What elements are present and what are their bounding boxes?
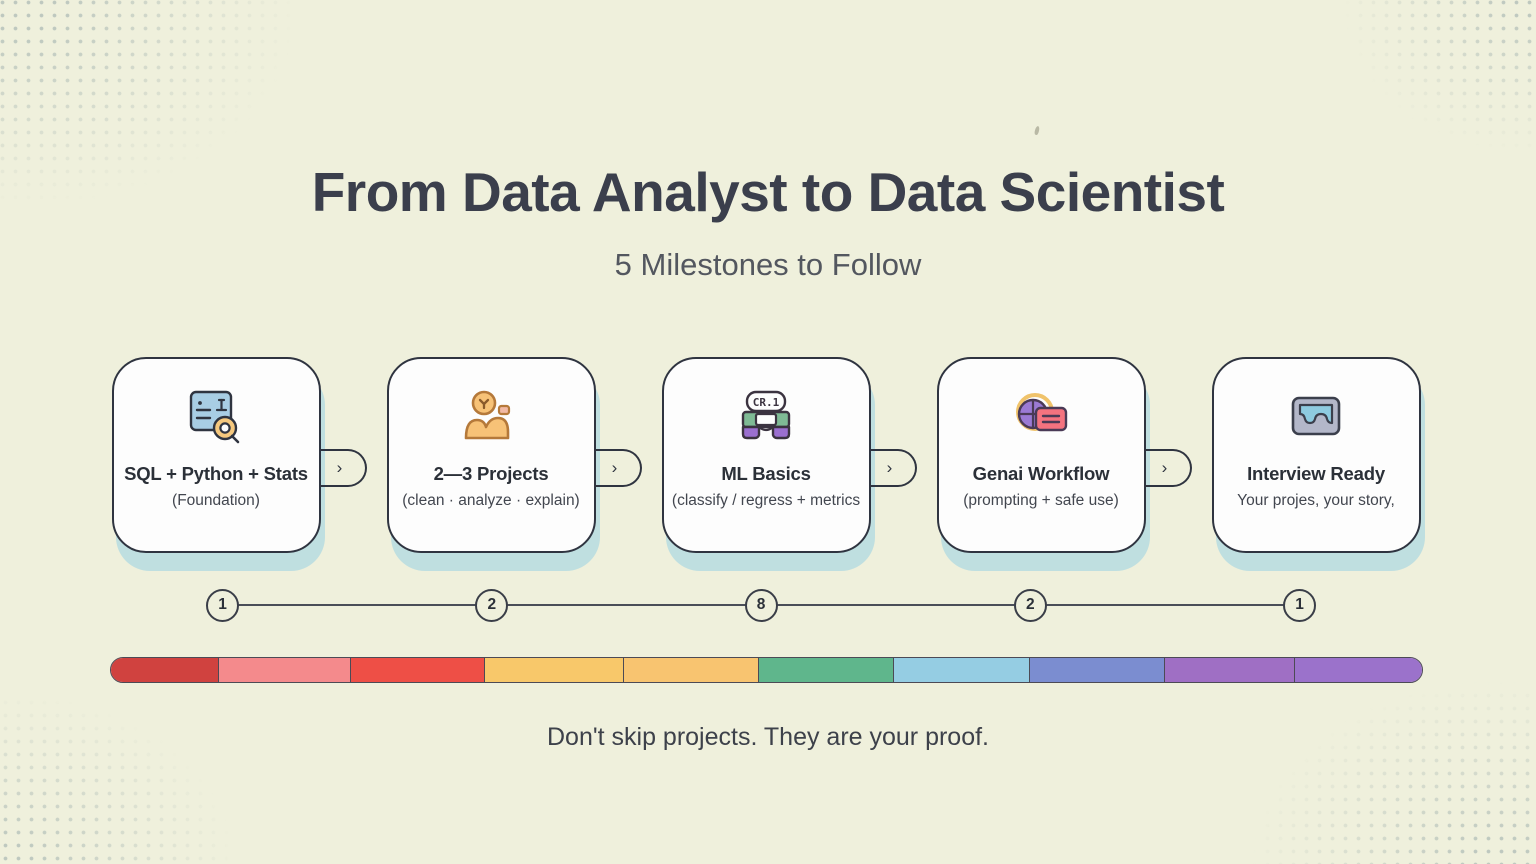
milestone-card-1[interactable]: SQL + Python + Stats (Foundation) ›: [112, 357, 325, 572]
chevron-right-icon: ›: [887, 459, 893, 476]
chevron-right-icon: ›: [612, 459, 618, 476]
color-bar-segment-3: [351, 658, 485, 682]
card-title: Genai Workflow: [973, 464, 1110, 484]
timeline-node-2[interactable]: 2: [475, 589, 508, 622]
milestone-card-5[interactable]: Interview Ready Your projes, your story,: [1212, 357, 1425, 572]
card-body[interactable]: Genai Workflow (prompting + safe use): [937, 357, 1146, 553]
color-bar-segment-10: [1295, 658, 1422, 682]
robot-chatbot-icon: CR.1: [730, 386, 802, 450]
card-connector-arrow: ›: [594, 449, 642, 487]
timeline-node-1[interactable]: 1: [206, 589, 239, 622]
card-body[interactable]: 2—3 Projects (clean · analyze · explain): [387, 357, 596, 553]
timeline-node-group: 1 2 8 2 1: [206, 588, 1316, 622]
footer-caption: Don't skip projects. They are your proof…: [0, 723, 1536, 752]
color-bar-segment-2: [219, 658, 351, 682]
document-magnifier-icon: [180, 386, 252, 450]
card-connector-arrow: ›: [319, 449, 367, 487]
color-bar-segment-1: [111, 658, 219, 682]
color-bar-segment-7: [894, 658, 1030, 682]
milestone-card-3[interactable]: CR.1 ML Basics (classify / regress + met…: [662, 357, 875, 572]
milestone-card-4[interactable]: Genai Workflow (prompting + safe use) ›: [937, 357, 1150, 572]
halftone-texture-top-left: [0, 0, 390, 270]
card-connector-arrow: ›: [869, 449, 917, 487]
card-connector-arrow: ›: [1144, 449, 1192, 487]
card-title: 2—3 Projects: [434, 464, 549, 484]
card-title: Interview Ready: [1247, 464, 1385, 484]
screen-presentation-icon: [1280, 386, 1352, 450]
color-bar-segment-9: [1165, 658, 1295, 682]
card-title: ML Basics: [721, 464, 810, 484]
user-person-icon: [455, 386, 527, 450]
chevron-right-icon: ›: [1162, 459, 1168, 476]
chevron-right-icon: ›: [337, 459, 343, 476]
page-subtitle: 5 Milestones to Follow: [0, 247, 1536, 283]
layers-card-icon: [1005, 386, 1077, 450]
milestone-timeline: 1 2 8 2 1: [206, 588, 1316, 622]
card-subtitle: (prompting + safe use): [963, 492, 1119, 509]
card-body[interactable]: SQL + Python + Stats (Foundation): [112, 357, 321, 553]
card-subtitle: Your projes, your story,: [1237, 492, 1395, 509]
background-speck: [1034, 126, 1040, 136]
card-subtitle: (classify / regress + metrics: [672, 492, 860, 509]
timeline-node-4[interactable]: 2: [1014, 589, 1047, 622]
timeline-node-3[interactable]: 8: [745, 589, 778, 622]
milestone-card-2[interactable]: 2—3 Projects (clean · analyze · explain)…: [387, 357, 600, 572]
progress-color-bar: [110, 657, 1423, 683]
card-subtitle: (clean · analyze · explain): [402, 492, 579, 509]
card-body[interactable]: Interview Ready Your projes, your story,: [1212, 357, 1421, 553]
card-body[interactable]: CR.1 ML Basics (classify / regress + met…: [662, 357, 871, 553]
infographic-canvas: From Data Analyst to Data Scientist 5 Mi…: [0, 0, 1536, 864]
color-bar-segment-5: [624, 658, 759, 682]
color-bar-segment-8: [1030, 658, 1165, 682]
color-bar-segment-4: [485, 658, 624, 682]
timeline-node-5[interactable]: 1: [1283, 589, 1316, 622]
card-subtitle: (Foundation): [172, 492, 260, 509]
milestone-card-row: SQL + Python + Stats (Foundation) ›: [0, 357, 1536, 572]
svg-text:CR.1: CR.1: [753, 396, 780, 409]
page-title: From Data Analyst to Data Scientist: [0, 160, 1536, 224]
card-title: SQL + Python + Stats: [124, 464, 308, 484]
color-bar-segment-6: [759, 658, 894, 682]
